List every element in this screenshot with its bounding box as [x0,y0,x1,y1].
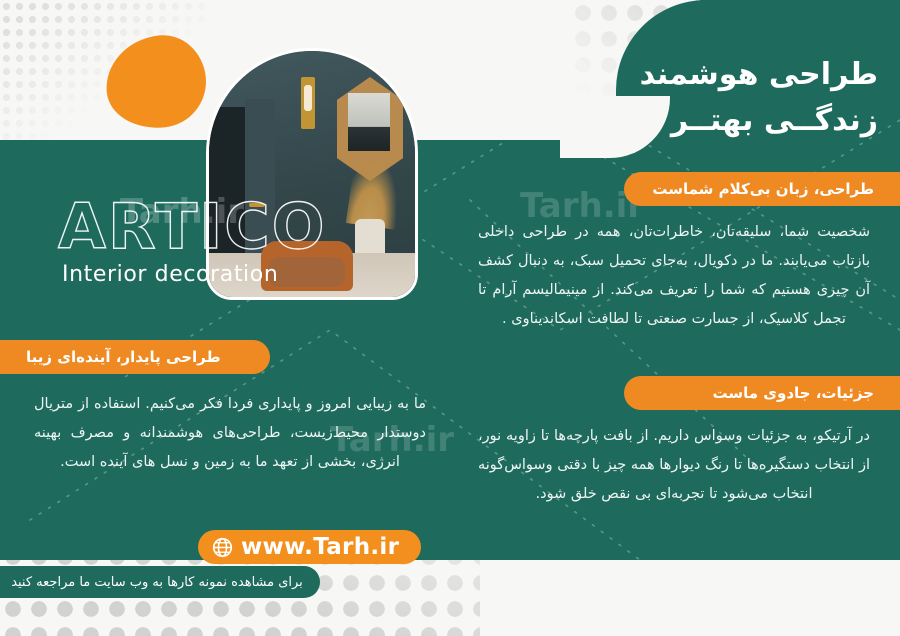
globe-icon [212,537,233,558]
footer-caption-text: برای مشاهده نمونه کارها به وب سایت ما مر… [11,575,303,590]
sconce-glass [304,85,312,111]
section-heading-details-magic: جزئیات، جادوی ماست [624,376,900,410]
wall-mirror-glass [348,93,390,151]
headline-line-1: طراحی هوشمند [578,52,878,98]
headline-line-2: زندگــی بهتــر [578,98,878,144]
section-body-details-magic: در آرتیکو، به جزئیات وسواس داریم. از باف… [478,422,870,509]
footer-caption-band: برای مشاهده نمونه کارها به وب سایت ما مر… [0,566,320,598]
logo-tagline: Interior decoration [62,262,388,287]
section-heading-design-language: طراحی، زبان بی‌کلام شماست [624,172,900,206]
brand-logo: ARTICO Interior decoration [58,196,388,287]
section-body-design-language: شخصیت شما، سلیقه‌تان، خاطرات‌تان، همه در… [478,218,870,334]
logo-wordmark: ARTICO [58,196,388,258]
section-body-sustainable-design: ما به زیبایی امروز و پایداری فردا فکر می… [34,390,426,477]
website-url: www.Tarh.ir [241,534,399,560]
website-button[interactable]: www.Tarh.ir [198,530,421,564]
section-heading-sustainable-design: طراحی پایدار، آینده‌ای زیبا [0,340,270,374]
page-title: طراحی هوشمند زندگــی بهتــر [578,52,878,143]
poster-canvas: Tarh.ir Tarh.ir Tarh.ir ARTICO Interior … [0,0,900,636]
